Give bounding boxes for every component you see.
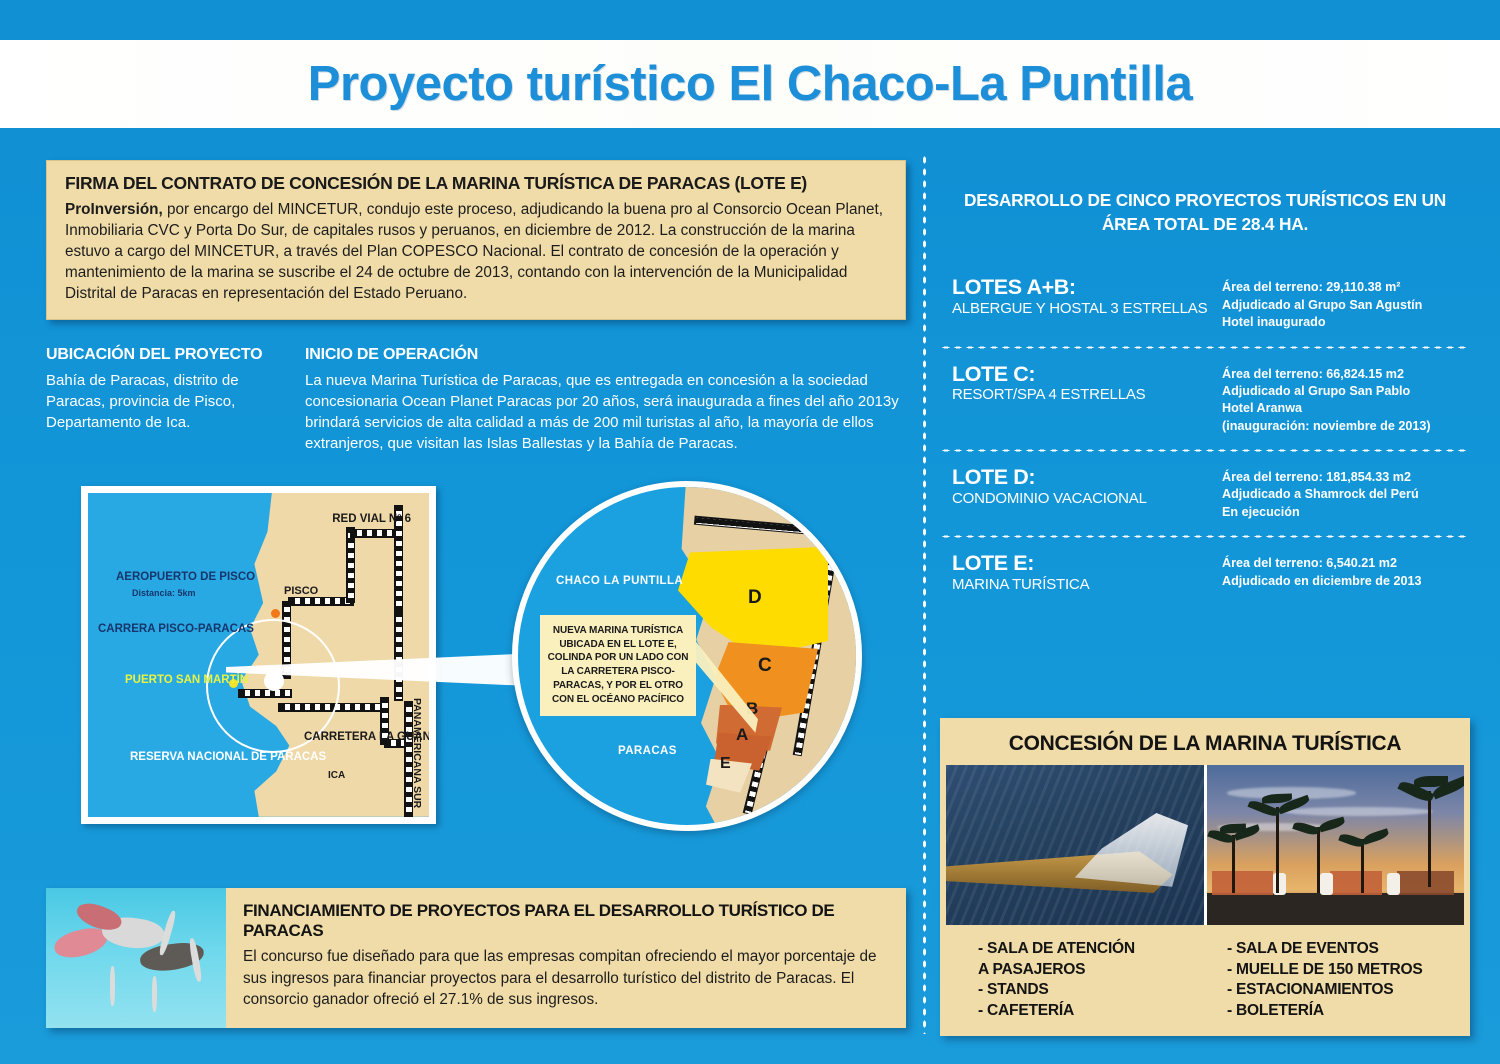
contract-panel: FIRMA DEL CONTRATO DE CONCESIÓN DE LA MA… [46,160,906,320]
map-label-puerto: PUERTO SAN MARTÍN [125,674,248,686]
row-divider [940,535,1470,538]
project-subtitle: RESORT/SPA 4 ESTRELLAS [952,386,1222,403]
lot-label-a: A [736,725,748,745]
project-name: LOTES A+B: [952,276,1222,299]
building-block [1212,871,1274,895]
project-row-ab: LOTES A+B: ALBERGUE Y HOSTAL 3 ESTRELLAS… [940,270,1470,337]
flamingo-leg [152,976,157,1012]
building-block [1330,871,1382,895]
project-row-e: LOTE E: MARINA TURÍSTICA Área del terren… [940,546,1470,599]
feature-item: A PASAJEROS [978,960,1211,981]
feature-item: - SALA DE ATENCIÓN [978,939,1211,960]
map-label-reserva: RESERVA NACIONAL DE PARACAS [130,750,326,764]
project-details: Área del terreno: 181,854.33 m2 Adjudica… [1222,466,1470,521]
lot-label-c: C [758,655,772,677]
detail-line: (inauguración: noviembre de 2013) [1222,418,1470,435]
lantern [1387,873,1400,895]
lantern [1320,873,1333,895]
detail-line: Adjudicado al Grupo San Agustín [1222,297,1470,314]
top-blue-strip [0,0,1500,40]
detail-line: Hotel Aranwa [1222,400,1470,417]
features-left: - SALA DE ATENCIÓN A PASAJEROS - STANDS … [968,939,1211,1021]
project-details: Área del terreno: 6,540.21 m2 Adjudicado… [1222,552,1470,590]
features-right: - SALA DE EVENTOS - MUELLE DE 150 METROS… [1227,939,1460,1021]
marina-concession-card: CONCESIÓN DE LA MARINA TURÍSTICA [940,718,1470,1036]
maps-area: RED VIAL Nº 6 PISCO ICA AEROPUERTO DE PI… [46,481,906,841]
regional-map-canvas: RED VIAL Nº 6 PISCO ICA AEROPUERTO DE PI… [88,493,429,817]
financing-body: El concurso fue diseñado para que las em… [243,946,888,1011]
feature-item: - SALA DE EVENTOS [1227,939,1460,960]
inset-label-chaco: CHACO LA PUNTILLA [556,575,683,587]
regional-map: RED VIAL Nº 6 PISCO ICA AEROPUERTO DE PI… [81,486,436,824]
right-column: DESARROLLO DE CINCO PROYECTOS TURÍSTICOS… [940,188,1470,599]
contract-body: ProInversión, por encargo del MINCETUR, … [65,199,889,305]
page-title: Proyecto turístico El Chaco-La Puntilla [308,56,1192,112]
project-details: Área del terreno: 66,824.15 m2 Adjudicad… [1222,363,1470,436]
inicio-block: INICIO DE OPERACIÓN La nueva Marina Turí… [305,346,906,455]
project-name: LOTE C: [952,363,1222,386]
flamingo-leg [110,966,115,1006]
marina-callout: NUEVA MARINA TURÍSTICA UBICADA EN EL LOT… [540,615,696,716]
financing-text: FINANCIAMIENTO DE PROYECTOS PARA EL DESA… [226,888,906,1028]
project-name-block: LOTE D: CONDOMINIO VACACIONAL [952,466,1222,507]
feature-item: - ESTACIONAMIENTOS [1227,980,1460,1001]
ubicacion-block: UBICACIÓN DEL PROYECTO Bahía de Paracas,… [46,346,271,455]
project-name-block: LOTE E: MARINA TURÍSTICA [952,552,1222,593]
project-subtitle: ALBERGUE Y HOSTAL 3 ESTRELLAS [952,300,1222,317]
marina-heading: CONCESIÓN DE LA MARINA TURÍSTICA [946,724,1464,765]
feature-item: - STANDS [978,980,1211,1001]
map-label-red-vial: RED VIAL Nº 6 [332,513,411,525]
financing-heading: FINANCIAMIENTO DE PROYECTOS PARA EL DESA… [243,901,888,941]
project-details: Área del terreno: 29,110.38 m² Adjudicad… [1222,276,1470,331]
road-segment [346,527,355,603]
marina-features: - SALA DE ATENCIÓN A PASAJEROS - STANDS … [946,925,1464,1027]
feature-item: - BOLETERÍA [1227,1001,1460,1022]
title-band: Proyecto turístico El Chaco-La Puntilla [0,40,1500,128]
road-segment [394,611,403,701]
ground-plane [1207,893,1465,925]
map-label-carrera: CARRERA PISCO-PARACAS [98,623,254,635]
project-subtitle: CONDOMINIO VACACIONAL [952,490,1222,507]
map-label-ica: ICA [328,770,345,781]
project-name-block: LOTES A+B: ALBERGUE Y HOSTAL 3 ESTRELLAS [952,276,1222,317]
contract-text: por encargo del MINCETUR, condujo este p… [65,201,883,302]
detail-line: Área del terreno: 29,110.38 m² [1222,279,1470,296]
map-label-aeropuerto: AEROPUERTO DE PISCO [116,571,255,583]
inicio-heading: INICIO DE OPERACIÓN [305,346,906,364]
infographic-body: FIRMA DEL CONTRATO DE CONCESIÓN DE LA MA… [0,128,1500,1064]
financing-panel: FINANCIAMIENTO DE PROYECTOS PARA EL DESA… [46,888,906,1028]
vertical-dotted-divider [922,154,927,1034]
inset-label-paracas: PARACAS [618,745,677,757]
contract-lead: ProInversión, [65,201,163,218]
contract-heading: FIRMA DEL CONTRATO DE CONCESIÓN DE LA MA… [65,173,889,194]
left-column: FIRMA DEL CONTRATO DE CONCESIÓN DE LA MA… [46,160,906,841]
ubicacion-body: Bahía de Paracas, distrito de Paracas, p… [46,370,271,434]
feature-item: - CAFETERÍA [978,1001,1211,1022]
project-name: LOTE D: [952,466,1222,489]
detail-line: Adjudicado a Shamrock del Perú [1222,486,1470,503]
project-name: LOTE E: [952,552,1222,575]
feature-item: - MUELLE DE 150 METROS [1227,960,1460,981]
flamingos-photo [46,888,226,1028]
lot-label-e: E [720,755,731,773]
project-row-c: LOTE C: RESORT/SPA 4 ESTRELLAS Área del … [940,357,1470,442]
detail-line: Área del terreno: 66,824.15 m2 [1222,366,1470,383]
detail-line: Adjudicado en diciembre de 2013 [1222,573,1470,590]
detail-line: Adjudicado al Grupo San Pablo [1222,383,1470,400]
marina-aerial-photo [946,765,1204,925]
map-label-pisco: PISCO [284,585,318,597]
cloud [1284,807,1433,817]
detail-line: Área del terreno: 181,854.33 m2 [1222,469,1470,486]
road-segment [288,597,354,606]
row-divider [940,346,1470,349]
building-block [1397,871,1454,895]
marina-render-photo [1207,765,1465,925]
detail-line: Hotel inaugurado [1222,314,1470,331]
map-label-distancia: Distancia: 5km [132,588,196,598]
map-label-panamericana: PANAMERICANA SUR [411,698,423,808]
marina-photos [946,765,1464,925]
project-row-d: LOTE D: CONDOMINIO VACACIONAL Área del t… [940,460,1470,527]
inicio-body: La nueva Marina Turística de Paracas, qu… [305,370,906,455]
lot-label-d: D [748,587,762,609]
project-name-block: LOTE C: RESORT/SPA 4 ESTRELLAS [952,363,1222,404]
row-divider [940,449,1470,452]
projects-title: DESARROLLO DE CINCO PROYECTOS TURÍSTICOS… [940,188,1470,236]
info-blocks: UBICACIÓN DEL PROYECTO Bahía de Paracas,… [46,346,906,455]
detail-map-inset: D C B A E CHACO LA PUNTILLA PARACAS NUEV… [512,481,862,831]
pisco-marker [271,609,280,618]
detail-line: En ejecución [1222,504,1470,521]
project-subtitle: MARINA TURÍSTICA [952,576,1222,593]
detail-line: Área del terreno: 6,540.21 m2 [1222,555,1470,572]
ubicacion-heading: UBICACIÓN DEL PROYECTO [46,346,271,364]
